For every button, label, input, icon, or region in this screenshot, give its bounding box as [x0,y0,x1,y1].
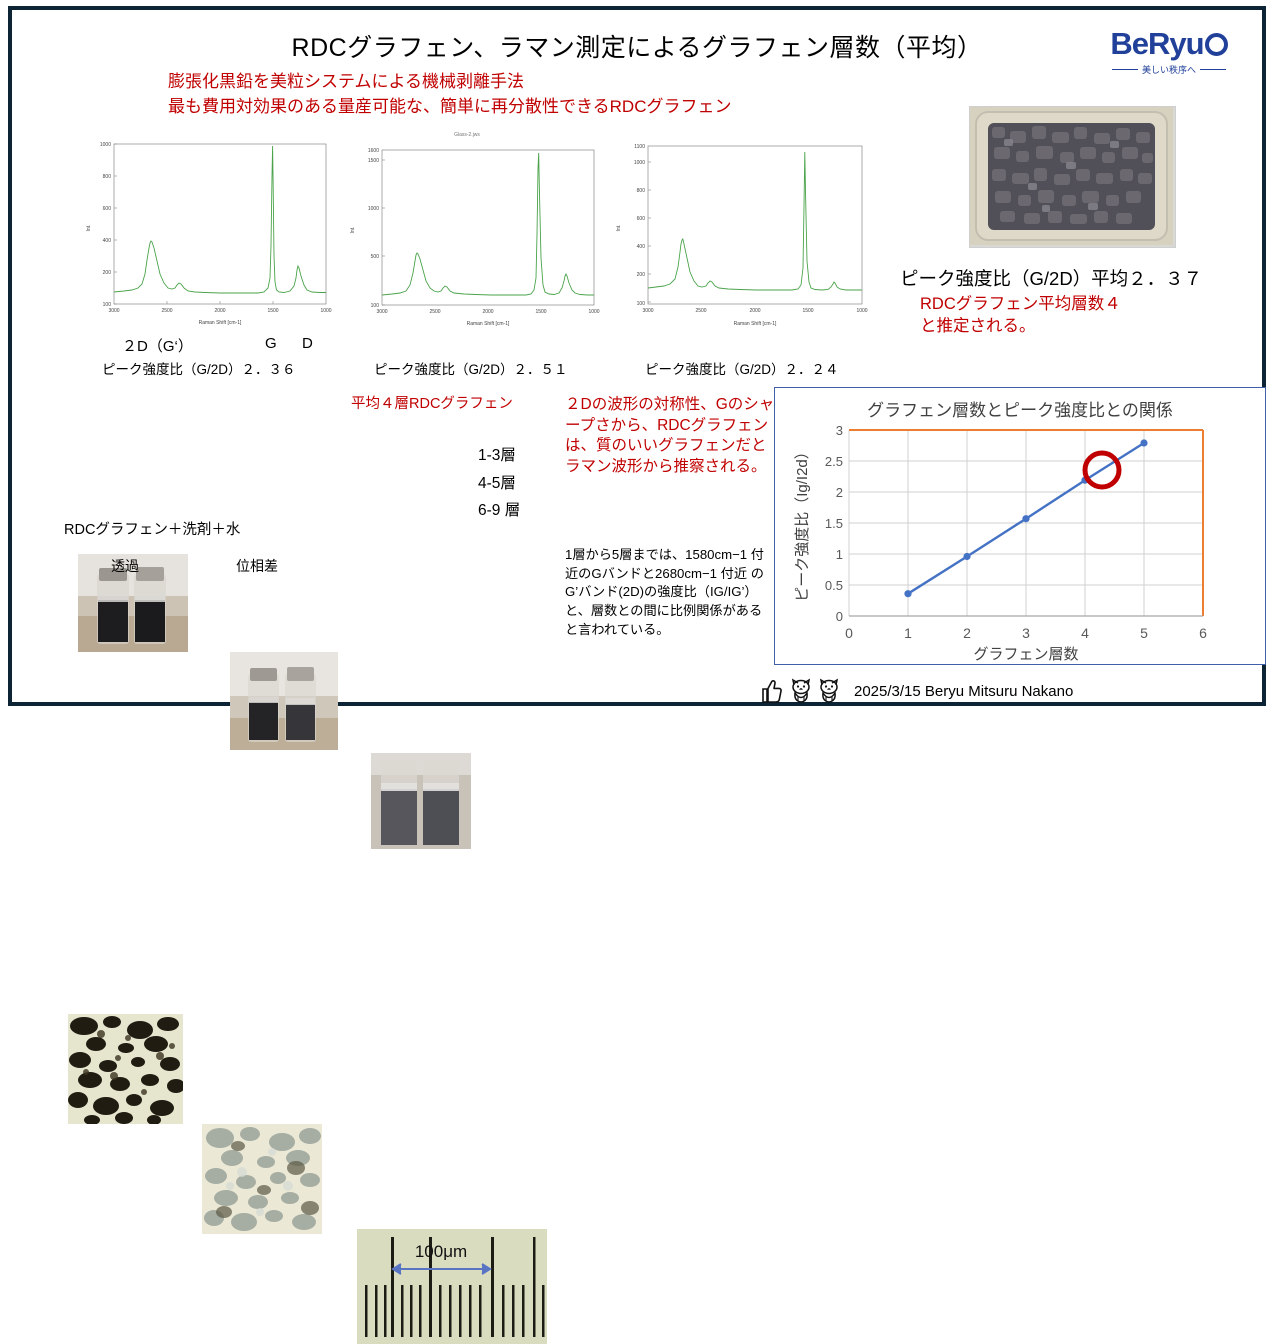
svg-text:1500: 1500 [267,308,278,314]
svg-text:2500: 2500 [429,309,440,315]
svg-text:3: 3 [1022,625,1030,641]
svg-text:1000: 1000 [100,142,111,148]
svg-text:3000: 3000 [642,308,653,314]
spectrum-2-filename: Glass-2.jws [412,132,522,138]
raman-spectrum-3: 11001000800 600400200 100 300025002000 1… [612,136,870,332]
logo-ring-icon [1205,33,1228,56]
svg-text:1500: 1500 [802,308,813,314]
vial-photo-2 [230,652,338,750]
svg-text:600: 600 [637,216,646,222]
raman-spectrum-1: 1000800 600400 200100 300025002000 15001… [80,136,332,331]
beryu-logo: BeRyu 美しい秩序へ [1084,28,1254,76]
cat-figure-icon-1 [790,678,812,704]
svg-text:2000: 2000 [482,309,493,315]
layer-range-item-1: 1-3層 [478,442,520,470]
svg-text:500: 500 [371,254,380,260]
svg-text:1000: 1000 [634,160,645,166]
thumbs-up-icon [760,678,784,704]
lead-line-1: 膨張化黒鉛を美粒システムによる機械剥離手法 [168,70,732,95]
expanded-graphite-photo [969,106,1176,248]
svg-text:800: 800 [103,174,112,180]
scale-bar-text: 100μm [415,1242,467,1261]
svg-text:1.5: 1.5 [825,516,843,531]
micrograph-transmission [68,1014,183,1124]
svg-text:1: 1 [836,547,843,562]
layer-range-item-3: 6-9 層 [478,497,520,525]
micrograph-scale-bar: 100μm [357,1229,547,1344]
svg-text:1000: 1000 [588,309,599,315]
relation-chart-ylabel: ピーク強度比（Ig/I2d） [794,444,811,602]
svg-text:400: 400 [103,238,112,244]
layer-estimate-line-1: RDCグラフェン平均層数４ [920,293,1121,315]
svg-text:3000: 3000 [108,308,119,314]
page-title: RDCグラフェン、ラマン測定によるグラフェン層数（平均） [12,28,1262,64]
svg-text:3: 3 [836,423,843,438]
logo-rule-right-icon [1200,69,1226,70]
lead-line-2: 最も費用対効果のある量産可能な、簡単に再分散性できるRDCグラフェン [168,95,732,120]
micrograph-label-transmission: 透過 [80,556,170,576]
svg-text:800: 800 [637,188,646,194]
footer: 2025/3/15 Beryu Mitsuru Nakano [760,678,1073,704]
svg-text:6: 6 [1199,625,1207,641]
svg-text:1500: 1500 [368,158,379,164]
layer-estimate-text: RDCグラフェン平均層数４ と推定される。 [920,293,1121,338]
spectrum-2-caption: ピーク強度比（G/2D）２．５１ [374,358,568,378]
svg-text:2: 2 [836,485,843,500]
svg-text:1: 1 [904,625,912,641]
micrograph-label-phase: 位相差 [212,556,302,576]
svg-text:Int.: Int. [86,225,92,232]
logo-wordmark: BeRyu [1084,28,1254,59]
svg-text:Int.: Int. [616,225,622,232]
svg-text:0: 0 [836,609,843,624]
svg-text:2000: 2000 [749,308,760,314]
spectrum-1-caption: ピーク強度比（G/2D）２．３６ [102,358,296,378]
micrograph-phase-contrast [202,1124,322,1234]
svg-text:5: 5 [1140,625,1148,641]
svg-text:Raman Shift [cm-1]: Raman Shift [cm-1] [199,320,242,326]
svg-text:1600: 1600 [368,148,379,154]
vial-photo-3 [371,753,471,849]
svg-text:400: 400 [637,244,646,250]
spectrum-3-caption: ピーク強度比（G/2D）２．２４ [645,358,839,378]
svg-text:Int.: Int. [350,227,356,234]
logo-tagline: 美しい秩序へ [1142,63,1196,76]
svg-text:1000: 1000 [368,206,379,212]
svg-text:2.5: 2.5 [825,454,843,469]
svg-text:0.5: 0.5 [825,578,843,593]
logo-rule-left-icon [1112,69,1138,70]
svg-text:Raman Shift [cm-1]: Raman Shift [cm-1] [467,321,510,327]
svg-text:0: 0 [845,625,853,641]
raman-quality-note: ２Dの波形の対称性、Gのシャープさから、RDCグラフェンは、質のいいグラフェンだ… [565,395,775,477]
relation-chart-xlabel: グラフェン層数 [973,646,1078,662]
avg-four-layer-label: 平均４層RDCグラフェン [351,392,513,413]
layer-ratio-note: 1層から5層までは、1580cm−1 付近のGバンドと2680cm−1 付近 の… [565,546,770,640]
cat-figure-icon-2 [818,678,840,704]
slide-frame: RDCグラフェン、ラマン測定によるグラフェン層数（平均） BeRyu 美しい秩序… [8,6,1266,706]
svg-text:2500: 2500 [695,308,706,314]
peak-label-g: G [265,335,277,352]
peak-label-2d: ２D（G‘） [122,335,193,356]
svg-text:Raman Shift [cm-1]: Raman Shift [cm-1] [734,321,777,327]
relation-chart-svg: 32.52 1.510.5 0 012 345 6 ピーク強度比（Ig/I2d）… [775,418,1263,662]
svg-text:1000: 1000 [856,308,867,314]
svg-text:1100: 1100 [634,144,645,150]
footer-date-author: 2025/3/15 Beryu Mitsuru Nakano [854,683,1073,700]
vial-caption-left: RDCグラフェン＋洗剤＋水 [64,518,240,539]
svg-text:200: 200 [637,272,646,278]
lead-text: 膨張化黒鉛を美粒システムによる機械剥離手法 最も費用対効果のある量産可能な、簡単… [168,70,732,119]
layer-range-list: 1-3層 4-5層 6-9 層 [478,442,520,525]
svg-text:2: 2 [963,625,971,641]
svg-text:1000: 1000 [320,308,331,314]
peak-label-d: D [302,335,313,352]
svg-text:2000: 2000 [214,308,225,314]
relation-chart-panel: グラフェン層数とピーク強度比との関係 [774,387,1266,665]
svg-text:3000: 3000 [376,309,387,315]
raman-spectrum-2: 16001500 1000500100 300025002000 1500100… [346,140,602,330]
logo-text: BeRyu [1110,26,1203,61]
svg-text:200: 200 [103,270,112,276]
svg-text:100: 100 [637,301,646,307]
svg-text:2500: 2500 [161,308,172,314]
average-ratio-text: ピーク強度比（G/2D）平均２．３７ [900,265,1202,291]
layer-estimate-line-2: と推定される。 [920,315,1121,337]
svg-text:4: 4 [1081,625,1089,641]
svg-text:1500: 1500 [535,309,546,315]
layer-range-item-2: 4-5層 [478,470,520,498]
svg-text:600: 600 [103,206,112,212]
logo-tagline-row: 美しい秩序へ [1084,63,1254,76]
